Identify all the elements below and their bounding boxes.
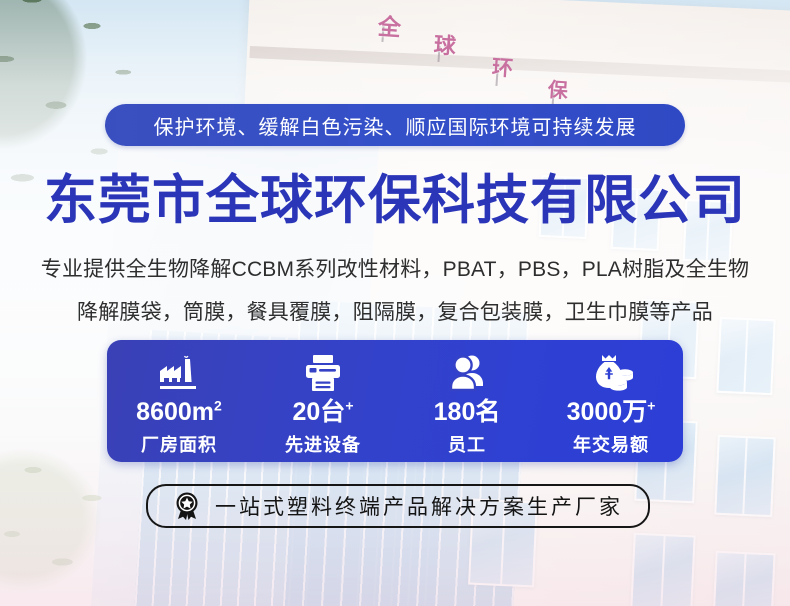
stat-item-employees: 180名 员工 <box>395 340 539 462</box>
tagline-text: 一站式塑料终端产品解决方案生产厂家 <box>215 491 623 521</box>
stat-label: 先进设备 <box>285 431 361 457</box>
stat-value: 180名 <box>434 400 501 425</box>
stat-number: 3000万 <box>567 398 648 426</box>
money-bag-icon <box>587 351 635 395</box>
tagline-capsule: 一站式塑料终端产品解决方案生产厂家 <box>146 484 650 528</box>
stat-item-factory-area: 8600m2 厂房面积 <box>107 340 251 462</box>
stat-superscript: + <box>345 398 353 414</box>
stat-number: 8600m <box>136 398 214 426</box>
description-line: 专业提供全生物降解CCBM系列改性材料，PBAT，PBS，PLA树脂及全生物 <box>0 248 790 291</box>
stat-label: 年交易额 <box>573 431 649 457</box>
factory-icon <box>156 351 202 395</box>
stat-label: 厂房面积 <box>141 431 217 457</box>
company-title: 东莞市全球环保科技有限公司 <box>0 172 790 230</box>
banner-content: 保护环境、缓解白色污染、顺应国际环境可持续发展 东莞市全球环保科技有限公司 专业… <box>0 0 790 606</box>
stat-number: 20台 <box>293 398 346 426</box>
headline-pill: 保护环境、缓解白色污染、顺应国际环境可持续发展 <box>105 104 685 146</box>
stat-superscript: + <box>647 398 655 414</box>
stat-label: 员工 <box>448 431 486 457</box>
award-medal-icon <box>173 491 201 521</box>
promotional-banner: 全 球 环 保 保护环境、缓解白色污染、顺应国际环境可持续发展 东莞市全球环保科… <box>0 0 790 606</box>
headline-text: 保护环境、缓解白色污染、顺应国际环境可持续发展 <box>154 111 637 140</box>
stat-value: 8600m2 <box>136 400 222 425</box>
users-icon <box>445 351 489 395</box>
stat-value: 20台+ <box>293 400 354 425</box>
company-description: 专业提供全生物降解CCBM系列改性材料，PBAT，PBS，PLA树脂及全生物 降… <box>0 248 790 334</box>
description-line: 降解膜袋，筒膜，餐具覆膜，阻隔膜，复合包装膜，卫生巾膜等产品 <box>0 291 790 334</box>
stat-item-equipment: 20台+ 先进设备 <box>251 340 395 462</box>
stats-panel: 8600m2 厂房面积 20台+ 先进设备 <box>107 340 683 462</box>
stat-item-annual-revenue: 3000万+ 年交易额 <box>539 340 683 462</box>
stat-number: 180名 <box>434 398 501 426</box>
printer-icon <box>301 351 345 395</box>
stat-superscript: 2 <box>214 398 222 414</box>
stat-value: 3000万+ <box>567 400 656 425</box>
